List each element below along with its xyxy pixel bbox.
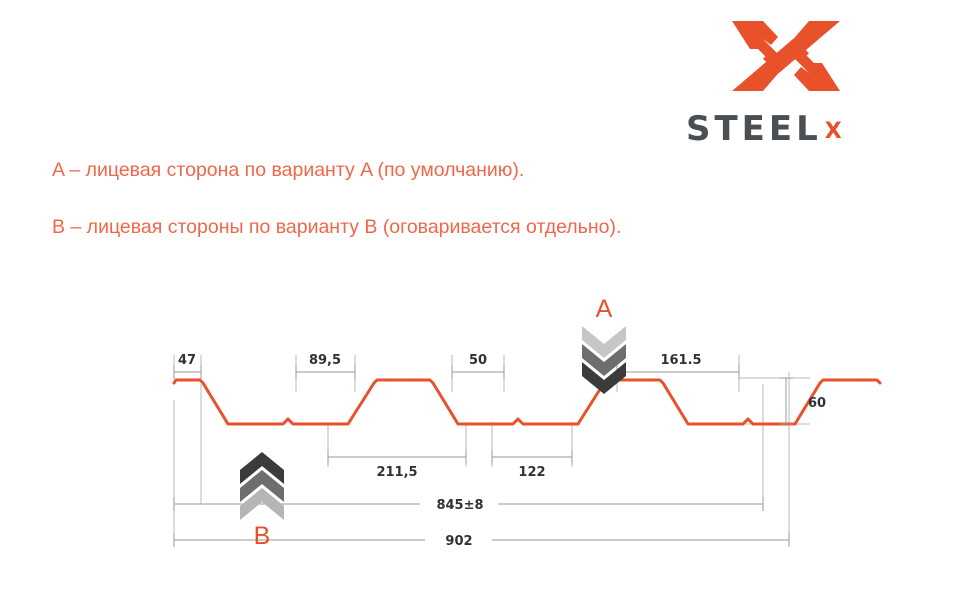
- dimension-lines-top: [174, 365, 739, 379]
- dimension-mid-span-left: 211,5: [376, 465, 417, 480]
- dimension-mid-span-right: 122: [518, 465, 545, 480]
- chevron-up-icon: [240, 452, 284, 520]
- sheet-profile-outline: [174, 380, 880, 424]
- side-a-marker: A: [582, 295, 626, 394]
- steelx-x-monogram-icon: [730, 18, 842, 94]
- wordmark-steel: STEEL: [686, 112, 822, 146]
- note-variant-a: A – лицевая сторона по варианту A (по ум…: [52, 159, 524, 182]
- brand-wordmark: STEEL X: [686, 110, 886, 146]
- chevron-down-icon: [582, 326, 626, 394]
- dimension-rib-pitch: 89,5: [309, 353, 341, 368]
- dimension-height: 60: [808, 396, 826, 411]
- note-variant-b: B – лицевая стороны по варианту B (огова…: [52, 216, 621, 239]
- side-a-label: A: [596, 295, 613, 323]
- technical-drawing-page: STEEL X A – лицевая сторона по варианту …: [0, 0, 970, 597]
- dimension-lines-middle: [328, 450, 572, 464]
- dimension-top-flange-left: 47: [178, 353, 196, 368]
- dimension-line-height: [779, 378, 793, 424]
- dimension-rib-top: 50: [469, 353, 487, 368]
- profile-technical-drawing: 47 89,5 50 161.5 60 211,5 122 845±8 902 …: [0, 272, 970, 562]
- dimension-cover-width: 845±8: [436, 498, 483, 513]
- dimension-total-width: 902: [445, 534, 472, 549]
- side-b-label: B: [254, 522, 271, 550]
- wordmark-x: X: [825, 121, 842, 143]
- dimension-right-span: 161.5: [660, 353, 701, 368]
- brand-logo: STEEL X: [686, 18, 886, 146]
- extension-lines: [174, 355, 810, 540]
- side-b-marker: B: [240, 452, 284, 550]
